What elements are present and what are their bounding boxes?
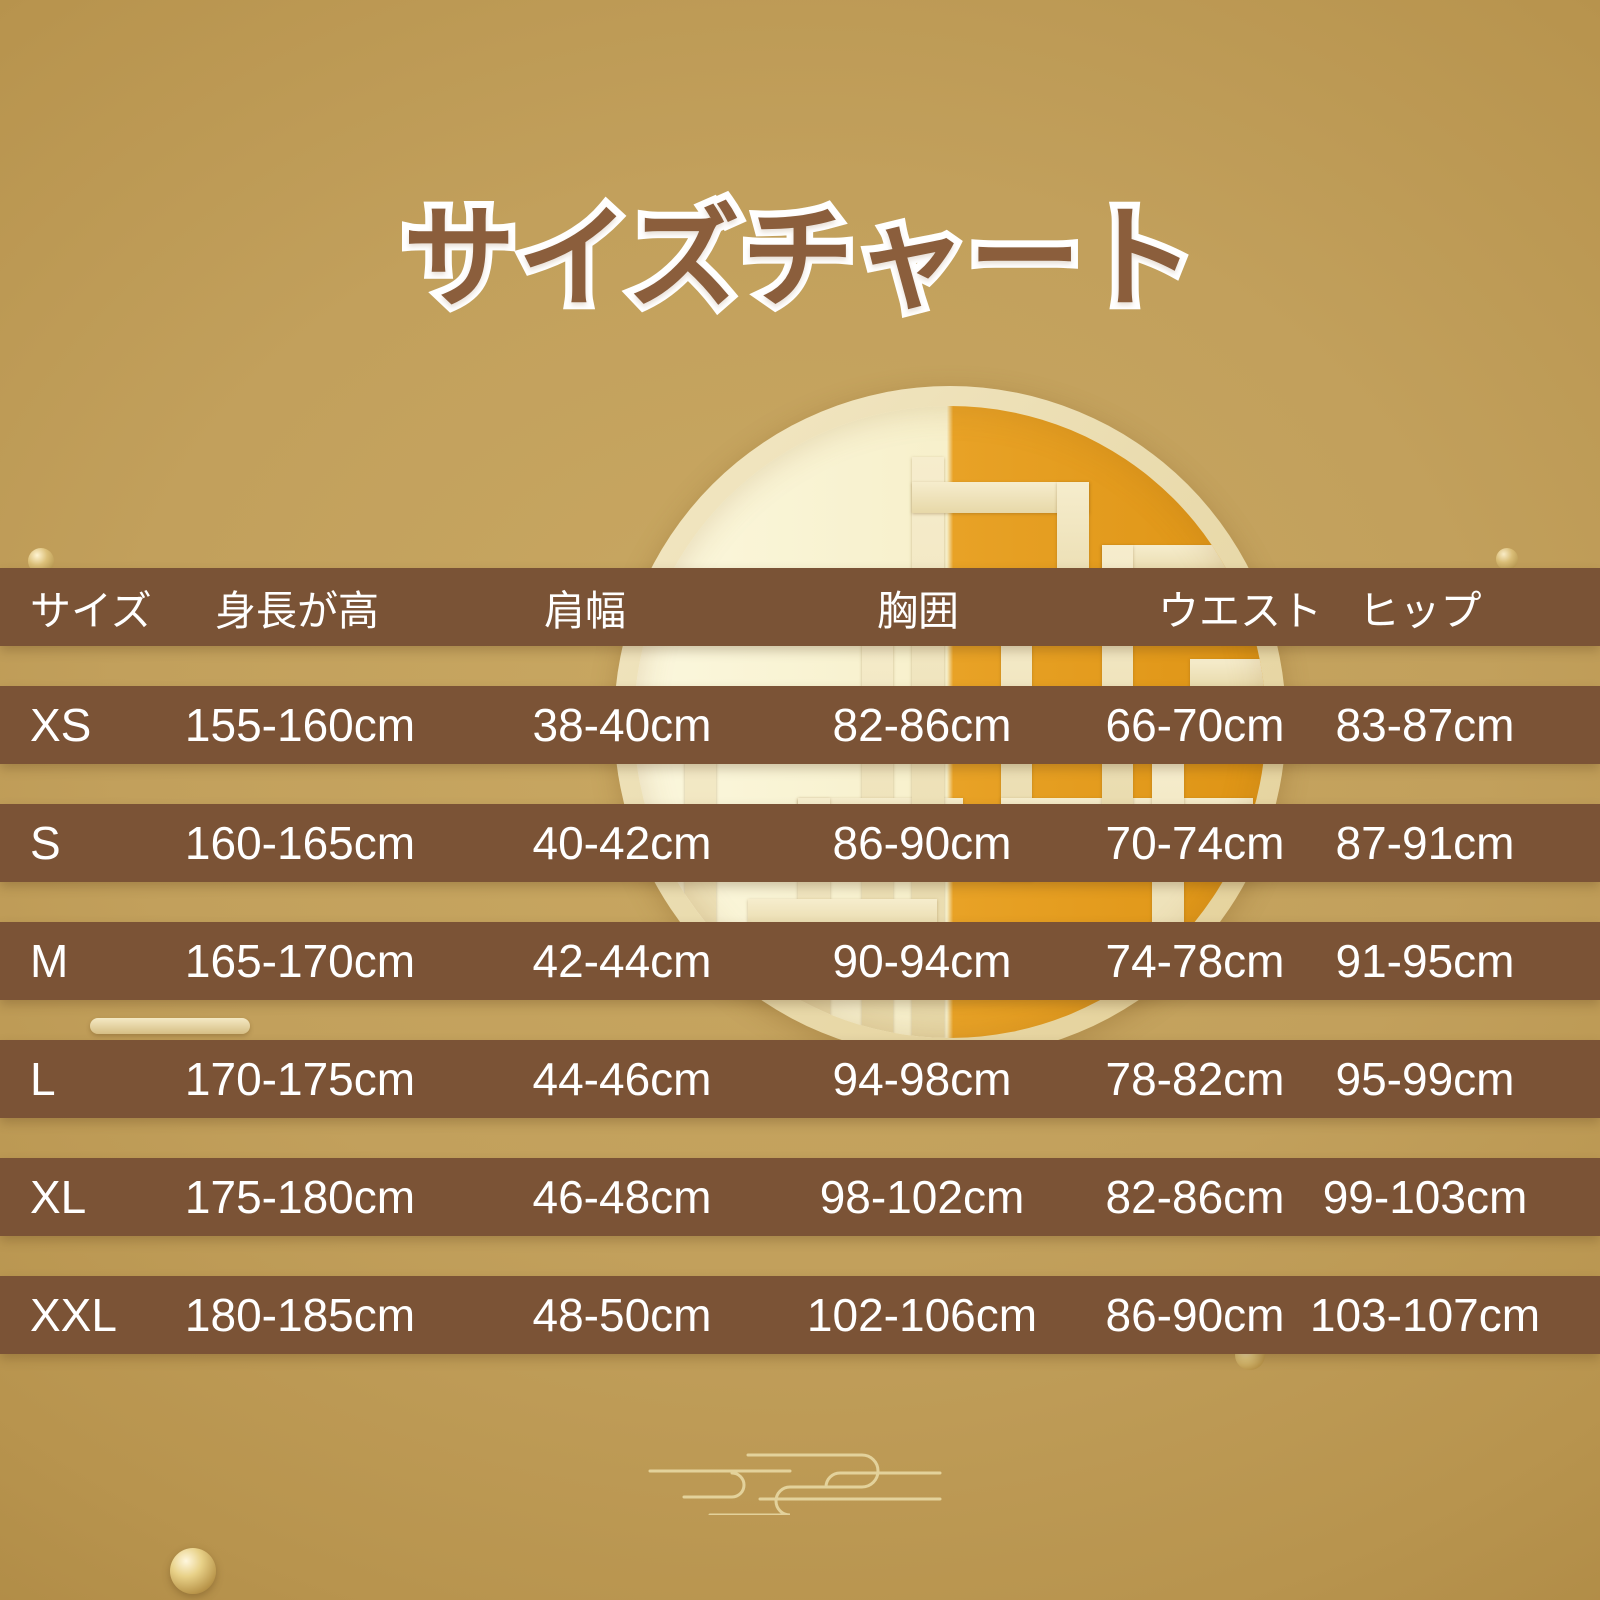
cell-hip: 83-87cm	[1336, 698, 1515, 752]
column-header-bust: 胸囲	[877, 577, 959, 637]
cell-height: 170-175cm	[185, 1052, 415, 1106]
gold-pin-right-icon	[1496, 548, 1518, 570]
table-row: XL175-180cm46-48cm98-102cm82-86cm99-103c…	[0, 1158, 1600, 1236]
column-header-height: 身長が高	[215, 577, 379, 637]
column-header-waist: ウエスト	[1158, 577, 1322, 637]
cell-waist: 78-82cm	[1106, 1052, 1285, 1106]
cell-shoulder: 44-46cm	[533, 1052, 712, 1106]
table-header-row: サイズ身長が高肩幅胸囲ウエストヒップ	[0, 568, 1600, 646]
cell-height: 155-160cm	[185, 698, 415, 752]
cell-waist: 74-78cm	[1106, 934, 1285, 988]
cell-shoulder: 46-48cm	[533, 1170, 712, 1224]
cell-height: 175-180cm	[185, 1170, 415, 1224]
column-header-size: サイズ	[30, 577, 152, 637]
size-chart-table: サイズ身長が高肩幅胸囲ウエストヒップXS155-160cm38-40cm82-8…	[0, 568, 1600, 1394]
table-row: S160-165cm40-42cm86-90cm70-74cm87-91cm	[0, 804, 1600, 882]
cell-shoulder: 48-50cm	[533, 1288, 712, 1342]
cell-bust: 82-86cm	[833, 698, 1012, 752]
cell-shoulder: 38-40cm	[533, 698, 712, 752]
cell-bust: 90-94cm	[833, 934, 1012, 988]
page-title: サイズチャート	[0, 168, 1600, 330]
column-header-hip: ヒップ	[1359, 577, 1482, 637]
cell-waist: 66-70cm	[1106, 698, 1285, 752]
cell-size: S	[30, 816, 61, 870]
table-row: XS155-160cm38-40cm82-86cm66-70cm83-87cm	[0, 686, 1600, 764]
cell-hip: 103-107cm	[1310, 1288, 1540, 1342]
lattice-bar	[912, 482, 1089, 514]
cell-height: 160-165cm	[185, 816, 415, 870]
cell-size: M	[30, 934, 68, 988]
cell-size: L	[30, 1052, 56, 1106]
cell-hip: 87-91cm	[1336, 816, 1515, 870]
cell-size: XS	[30, 698, 91, 752]
cell-shoulder: 40-42cm	[533, 816, 712, 870]
cell-shoulder: 42-44cm	[533, 934, 712, 988]
cloud-wave-motif-icon	[640, 1425, 960, 1515]
cell-waist: 86-90cm	[1106, 1288, 1285, 1342]
table-row: XXL180-185cm48-50cm102-106cm86-90cm103-1…	[0, 1276, 1600, 1354]
cell-bust: 98-102cm	[820, 1170, 1025, 1224]
cell-hip: 95-99cm	[1336, 1052, 1515, 1106]
cell-size: XL	[30, 1170, 86, 1224]
cell-hip: 91-95cm	[1336, 934, 1515, 988]
table-row: M165-170cm42-44cm90-94cm74-78cm91-95cm	[0, 922, 1600, 1000]
cell-hip: 99-103cm	[1323, 1170, 1528, 1224]
cell-size: XXL	[30, 1288, 117, 1342]
cell-bust: 94-98cm	[833, 1052, 1012, 1106]
cell-bust: 86-90cm	[833, 816, 1012, 870]
size-chart-poster: サイズチャート サイズ身長が高肩幅胸囲ウエストヒップXS155-160cm38-…	[0, 0, 1600, 1600]
table-row: L170-175cm44-46cm94-98cm78-82cm95-99cm	[0, 1040, 1600, 1118]
cell-height: 180-185cm	[185, 1288, 415, 1342]
cell-height: 165-170cm	[185, 934, 415, 988]
column-header-shoulder: 肩幅	[544, 577, 626, 637]
gold-sphere-icon	[170, 1548, 216, 1594]
cell-waist: 70-74cm	[1106, 816, 1285, 870]
cell-waist: 82-86cm	[1106, 1170, 1285, 1224]
cell-bust: 102-106cm	[807, 1288, 1037, 1342]
